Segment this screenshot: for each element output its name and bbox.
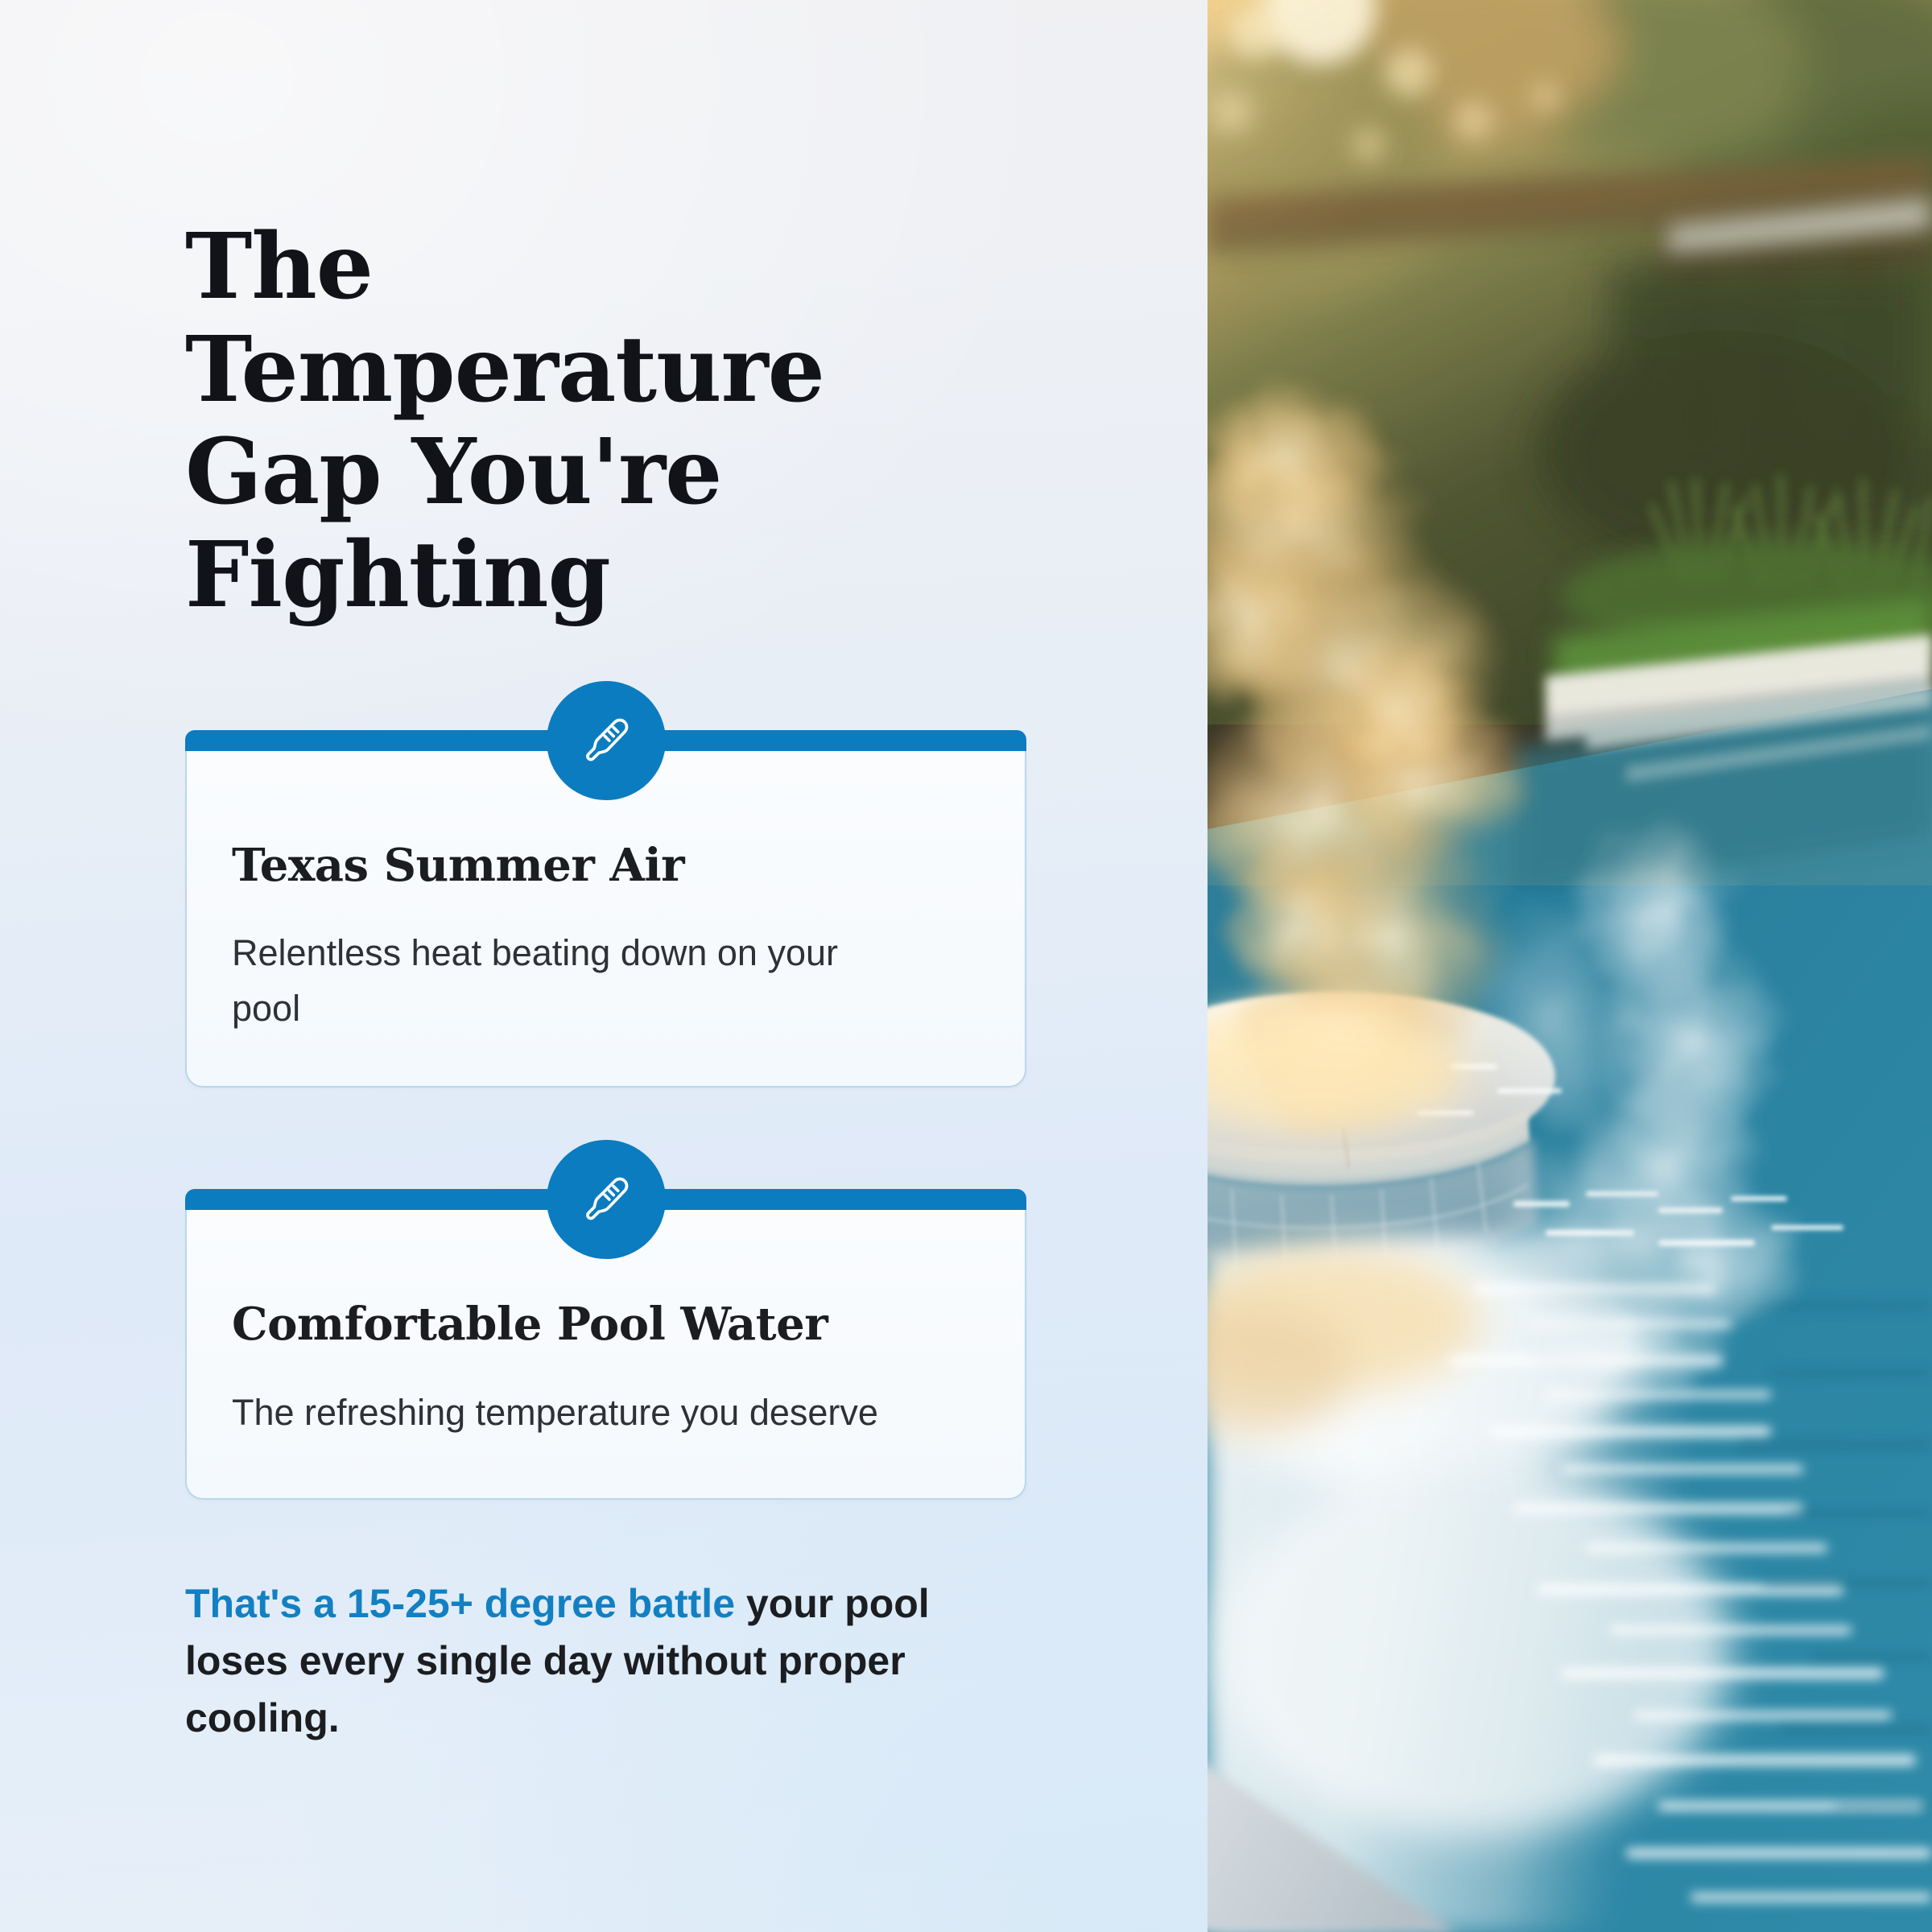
card-body: Texas Summer Air Relentless heat beating…: [185, 751, 1026, 1088]
card-title: Comfortable Pool Water: [232, 1300, 980, 1350]
card-accent-bar: [185, 1189, 1026, 1210]
card-description: Relentless heat beating down on your poo…: [232, 926, 908, 1036]
card-title: Texas Summer Air: [232, 841, 980, 891]
page-title-line-1: The Temperature: [185, 216, 1006, 421]
content-panel: The Temperature Gap You're Fighting: [0, 0, 1207, 1932]
page-title: The Temperature Gap You're Fighting: [185, 0, 1006, 627]
card-description: The refreshing temperature you deserve: [232, 1385, 908, 1440]
comparison-card-texas-summer-air: Texas Summer Air Relentless heat beating…: [185, 730, 1026, 1088]
thermometer-icon: [576, 1170, 636, 1229]
pool-photo: [1207, 0, 1932, 1932]
card-accent-bar: [185, 730, 1026, 751]
closing-statement: That's a 15-25+ degree battle your pool …: [185, 1575, 1006, 1747]
comparison-card-list: Texas Summer Air Relentless heat beating…: [185, 730, 1022, 1500]
page-title-line-2: Gap You're Fighting: [185, 421, 1006, 626]
closing-highlight: That's a 15-25+ degree battle: [185, 1581, 735, 1626]
thermometer-icon: [576, 711, 636, 770]
comparison-card-comfortable-pool-water: Comfortable Pool Water The refreshing te…: [185, 1189, 1026, 1500]
card-icon-badge: [547, 681, 666, 800]
card-icon-badge: [547, 1140, 666, 1259]
infographic-page: The Temperature Gap You're Fighting: [0, 0, 1932, 1932]
pool-photo-illustration: [1207, 0, 1932, 1932]
